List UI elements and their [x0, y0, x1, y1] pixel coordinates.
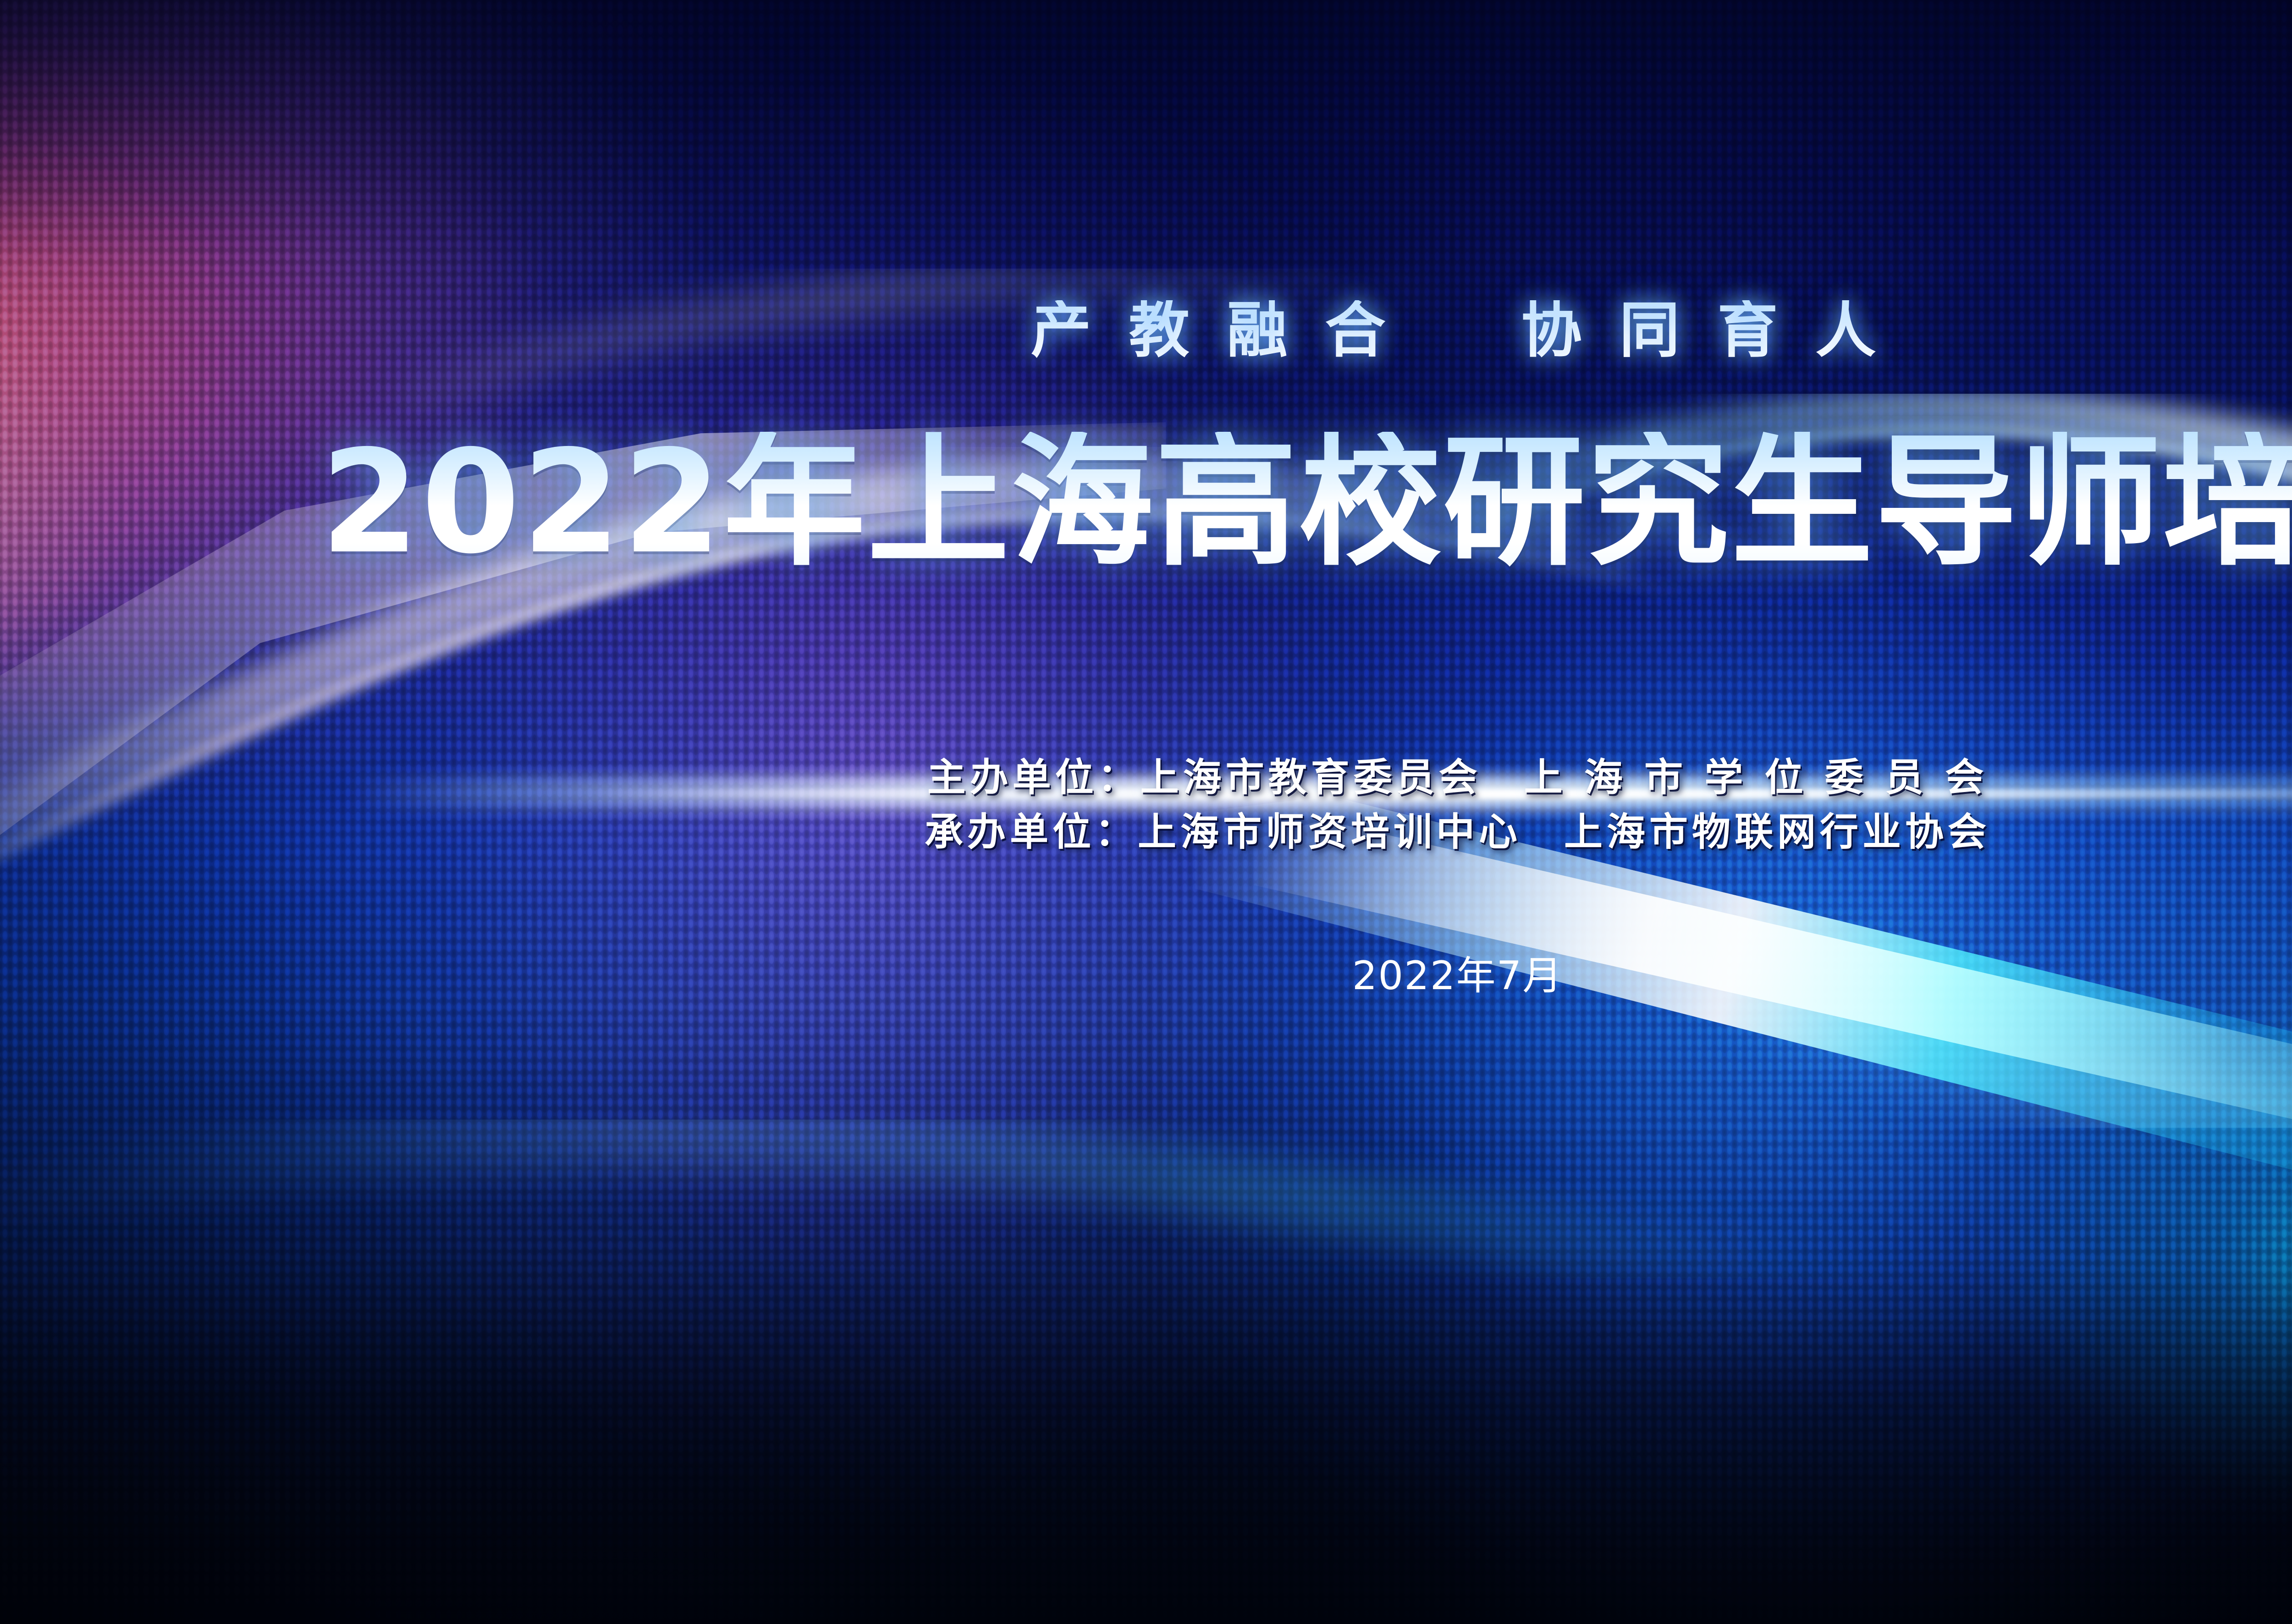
poster-content: 产 教 融 合 协 同 育 人 2022年上海高校研究生导师培训班 主办单位：上… — [0, 0, 2292, 1624]
poster-date: 2022年7月 — [1352, 956, 1563, 996]
event-poster: 产 教 融 合 协 同 育 人 2022年上海高校研究生导师培训班 主办单位：上… — [0, 0, 2292, 1624]
organizer-line-host: 主办单位：上海市教育委员会 上 海 市 学 位 委 员 会 — [925, 750, 1990, 805]
organizer-line-coordinator: 承办单位：上海市师资培训中心 上海市物联网行业协会 — [925, 805, 1990, 859]
poster-subtitle: 产 教 融 合 协 同 育 人 — [1031, 300, 1884, 361]
organizer-block: 主办单位：上海市教育委员会 上 海 市 学 位 委 员 会 承办单位：上海市师资… — [925, 750, 1990, 860]
poster-main-title: 2022年上海高校研究生导师培训班 — [320, 432, 2292, 574]
